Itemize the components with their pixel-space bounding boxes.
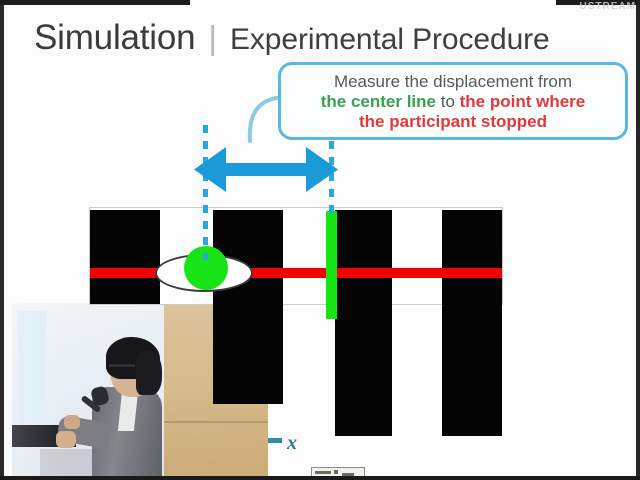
callout-text-measure: Measure the displacement from xyxy=(334,72,572,91)
stripe-bar-4-extension xyxy=(442,304,502,436)
slide-title-main: Simulation xyxy=(34,18,195,58)
stop-position-marker xyxy=(326,211,337,319)
bottom-strip-detail-3 xyxy=(342,473,354,476)
x-axis-label: x xyxy=(287,432,297,455)
callout-text-to: to xyxy=(436,92,460,111)
callout-text-center-line: the center line xyxy=(321,92,436,111)
center-line xyxy=(90,268,502,278)
bottom-strip-detail-1 xyxy=(315,471,331,474)
slide-title: Simulation | Experimental Procedure xyxy=(34,18,550,58)
bottom-strip-detail-2 xyxy=(334,470,338,474)
ustream-watermark: USTREAM xyxy=(580,1,636,12)
stripe-bar-2-extension xyxy=(213,304,283,404)
callout-line-1: Measure the displacement from xyxy=(334,72,572,92)
callout-line-2: the center line to the point where xyxy=(321,92,586,112)
bottom-thumbnail-strip xyxy=(311,467,365,476)
stripe-bar-3 xyxy=(335,210,392,304)
x-axis-tick xyxy=(268,438,282,443)
callout-box: Measure the displacement from the center… xyxy=(278,62,628,140)
video-player-screen: x Measure the displacement from the cent… xyxy=(0,0,640,480)
callout-line-3: the participant stopped xyxy=(359,112,547,132)
displacement-arrow xyxy=(192,139,340,201)
stripe-bar-1 xyxy=(90,210,160,304)
stripe-bar-3-extension xyxy=(335,304,392,436)
callout-text-point-where: the point where xyxy=(460,92,586,111)
slide-title-separator: | xyxy=(208,19,217,57)
presentation-slide: x Measure the displacement from the cent… xyxy=(4,5,636,476)
slide-title-sub: Experimental Procedure xyxy=(230,23,550,57)
callout-text-participant-stopped: the participant stopped xyxy=(359,112,547,131)
frame-edge-bottom xyxy=(0,476,640,480)
stripe-bar-4 xyxy=(442,210,502,304)
frame-edge-right xyxy=(636,0,640,480)
